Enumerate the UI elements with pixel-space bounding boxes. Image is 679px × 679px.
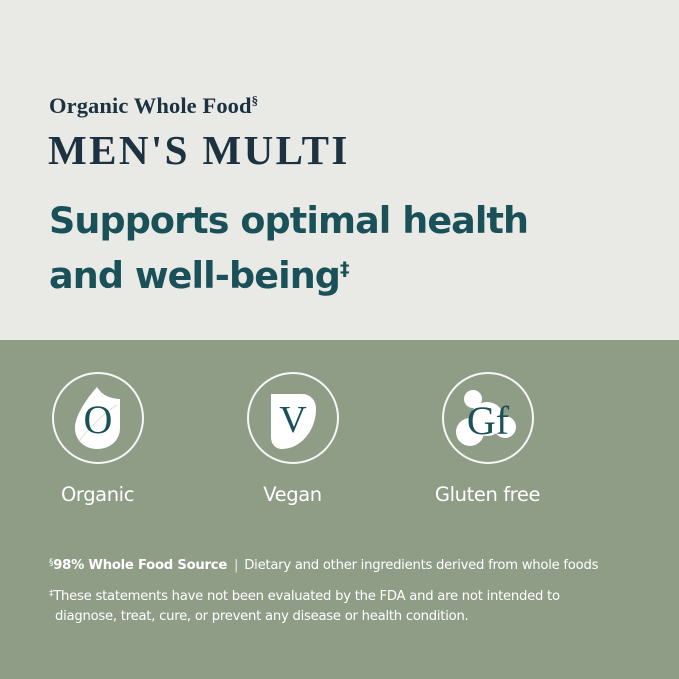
brand-eyebrow-text: Organic Whole Food xyxy=(49,93,252,118)
footnote-2-line-1: These statements have not been evaluated… xyxy=(53,589,560,604)
footnote-separator: | xyxy=(227,558,244,573)
brand-eyebrow: Organic Whole Food§ xyxy=(49,93,258,119)
badge-gluten-free-ring: Gf xyxy=(442,372,534,464)
footnote-1-text: Dietary and other ingredients derived fr… xyxy=(244,558,598,573)
footnote-2-line-2: diagnose, treat, cure, or prevent any di… xyxy=(49,607,629,627)
footnote-whole-food-source: §98% Whole Food Source|Dietary and other… xyxy=(49,558,629,573)
footnote-1-strong: 98% Whole Food Source xyxy=(53,558,227,573)
badge-row: O Organic V Vegan xyxy=(0,372,585,506)
badge-gluten-free: Gf Gluten free xyxy=(390,372,585,506)
leaf-organic-icon: O xyxy=(67,385,129,451)
badge-vegan-ring: V xyxy=(247,372,339,464)
certifications-panel: O Organic V Vegan xyxy=(0,340,679,679)
gluten-free-icon: Gf xyxy=(453,385,523,451)
product-marketing-panel: Organic Whole Food§ MEN'S MULTI Supports… xyxy=(0,0,679,679)
claim-line-1: Supports optimal health xyxy=(49,199,528,242)
brand-panel: Organic Whole Food§ MEN'S MULTI Supports… xyxy=(0,0,679,340)
badge-vegan-label: Vegan xyxy=(263,483,322,506)
double-dagger-marker-icon: ‡ xyxy=(340,258,350,280)
section-marker-icon: § xyxy=(252,93,259,108)
footnotes: §98% Whole Food Source|Dietary and other… xyxy=(49,558,629,626)
leaf-vegan-icon: V xyxy=(262,385,324,451)
badge-organic: O Organic xyxy=(0,372,195,506)
footnote-fda-disclaimer: ‡These statements have not been evaluate… xyxy=(49,585,629,626)
badge-organic-label: Organic xyxy=(61,483,134,506)
badge-organic-ring: O xyxy=(52,372,144,464)
page-title: MEN'S MULTI xyxy=(48,126,350,174)
badge-gluten-free-label: Gluten free xyxy=(435,483,540,506)
claim-headline: Supports optimal healthand well-being‡ xyxy=(49,196,528,300)
badge-vegan: V Vegan xyxy=(195,372,390,506)
svg-text:O: O xyxy=(83,397,112,442)
claim-line-2: and well-being xyxy=(49,254,340,297)
svg-text:V: V xyxy=(279,399,307,441)
svg-text:Gf: Gf xyxy=(466,398,509,443)
